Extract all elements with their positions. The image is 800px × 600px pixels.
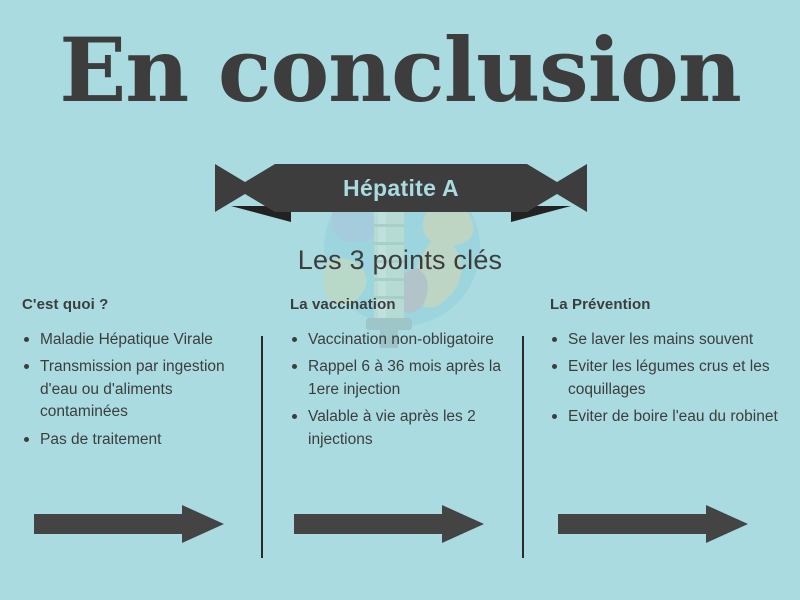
list-item: Transmission par ingestion d'eau ou d'al… [22, 356, 260, 423]
arrow-shaft [558, 514, 708, 534]
column-c-est-quoi: C'est quoi ? Maladie Hépatique Virale Tr… [22, 296, 260, 456]
list-item: Eviter les légumes crus et les coquillag… [550, 356, 788, 401]
arrow-right-icon [34, 505, 224, 543]
list-item: Eviter de boire l'eau du robinet [550, 406, 788, 428]
list-item: Vaccination non-obligatoire [290, 329, 528, 351]
page-title: En conclusion [0, 26, 800, 114]
arrow-head [182, 505, 224, 543]
list-item: Maladie Hépatique Virale [22, 329, 260, 351]
column-divider [522, 336, 524, 558]
arrow-head [706, 505, 748, 543]
arrow-shaft [294, 514, 444, 534]
column-bullet-list: Se laver les mains souvent Eviter les lé… [550, 329, 788, 429]
ribbon-banner: Hépatite A [215, 164, 587, 224]
list-item: Pas de traitement [22, 429, 260, 451]
list-item: Se laver les mains souvent [550, 329, 788, 351]
column-la-vaccination: La vaccination Vaccination non-obligatoi… [290, 296, 528, 456]
column-bullet-list: Maladie Hépatique Virale Transmission pa… [22, 329, 260, 451]
ribbon-label: Hépatite A [215, 164, 587, 212]
arrow-right-icon [294, 505, 484, 543]
column-heading: La Prévention [550, 296, 788, 313]
infographic-slide: En conclusion Hépatite A Les 3 points cl… [0, 0, 800, 600]
column-la-prevention: La Prévention Se laver les mains souvent… [550, 296, 788, 434]
column-heading: C'est quoi ? [22, 296, 260, 313]
column-heading: La vaccination [290, 296, 528, 313]
list-item: Rappel 6 à 36 mois après la 1ere injecti… [290, 356, 528, 401]
subtitle: Les 3 points clés [0, 245, 800, 276]
arrow-right-icon [558, 505, 748, 543]
list-item: Valable à vie après les 2 injections [290, 406, 528, 451]
column-divider [261, 336, 263, 558]
arrow-shaft [34, 514, 184, 534]
column-bullet-list: Vaccination non-obligatoire Rappel 6 à 3… [290, 329, 528, 451]
arrow-head [442, 505, 484, 543]
